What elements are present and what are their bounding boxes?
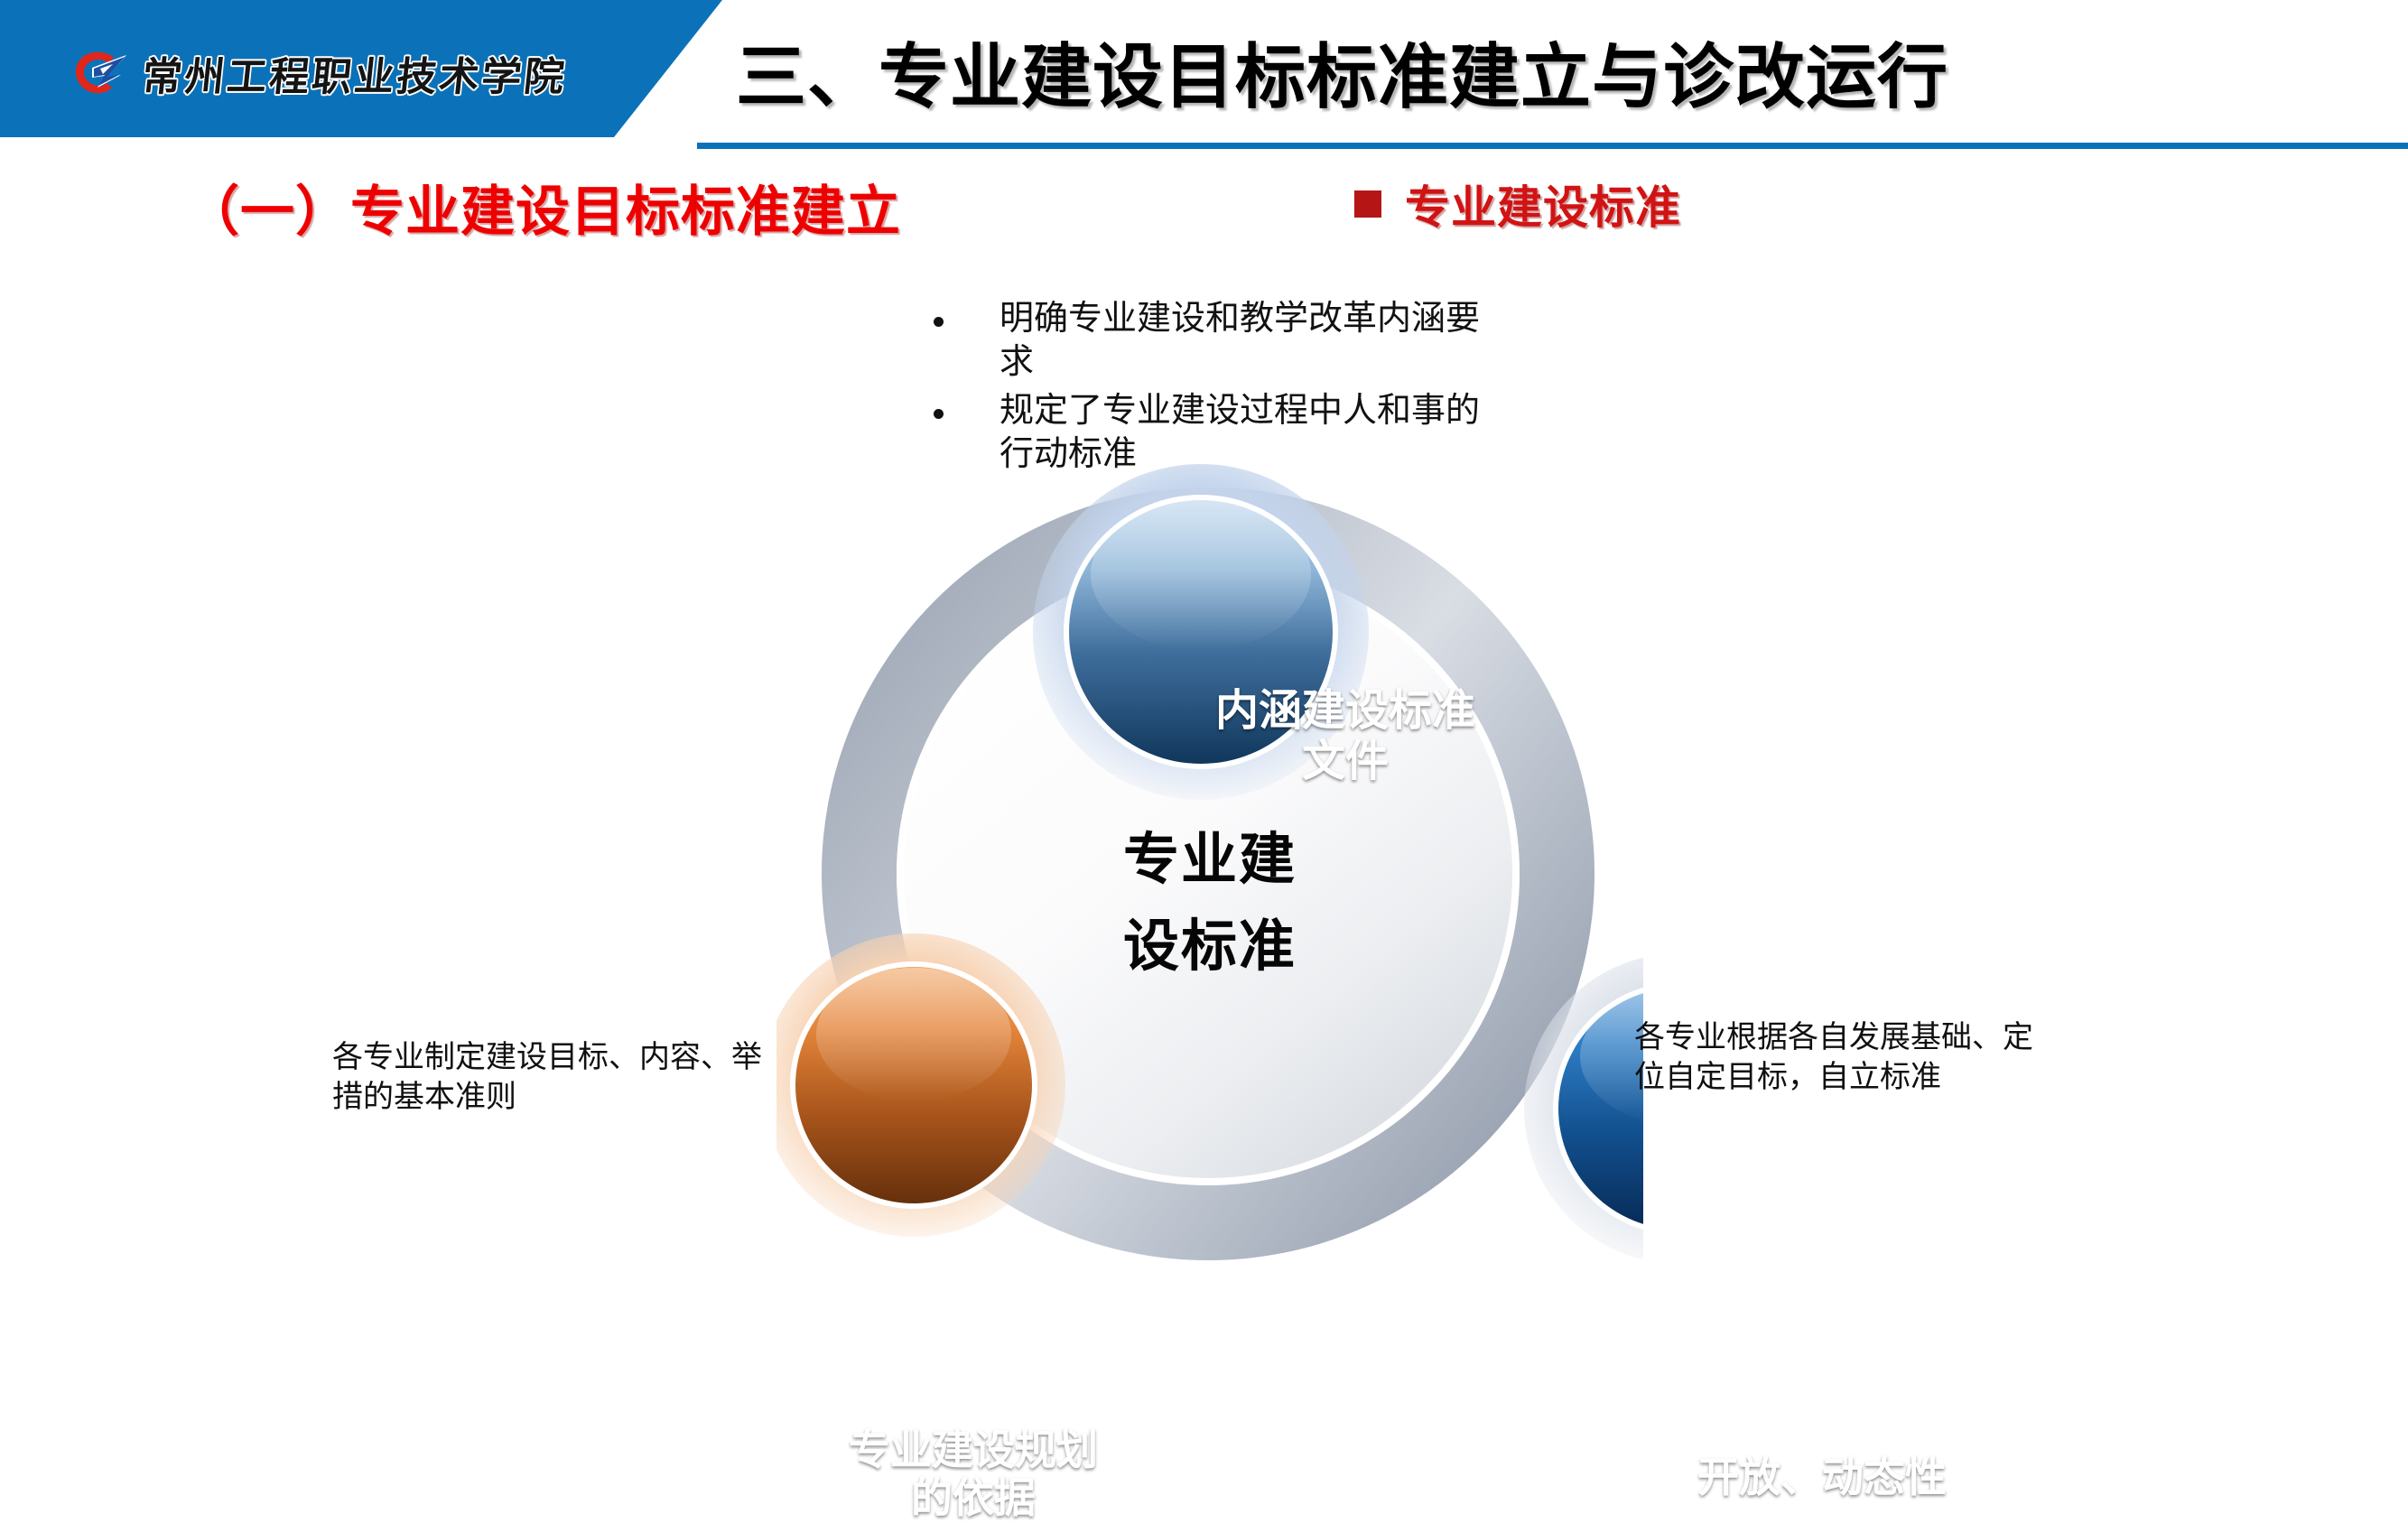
section-subtitle-left: （一）专业建设目标标准建立 [185, 168, 901, 246]
bullet-dot-icon [934, 317, 944, 327]
section-subtitle-right-label: 专业建设标准 [1405, 172, 1681, 237]
institution-logo: 常州工程职业技术学院 [70, 43, 630, 103]
university-emblem-icon [70, 48, 130, 98]
page-title: 三、专业建设目标标准建立与诊改运行 [736, 22, 2271, 121]
venn-ring-diagram: 内涵建设标准文件 专业建设规划的依据 开放、动态性 [776, 415, 1643, 1327]
slide-header: 常州工程职业技术学院 三、专业建设目标标准建立与诊改运行 [0, 0, 2408, 153]
node-right-label: 开放、动态性 [1687, 1453, 1957, 1501]
node-left-label: 专业建设规划的依据 [838, 1426, 1109, 1523]
header-divider [697, 143, 2408, 149]
caption-right: 各专业根据各自发展基础、定位自定目标，自立标准 [1634, 1018, 2050, 1097]
caption-left: 各专业制定建设目标、内容、举措的基本准则 [332, 1038, 775, 1117]
node-top [1033, 464, 1369, 800]
square-bullet-icon [1354, 190, 1381, 218]
section-subtitle-right: 专业建设标准 [1354, 172, 1681, 237]
institution-name: 常州工程职业技术学院 [140, 44, 571, 102]
list-item: 明确专业建设和教学改革内涵要求 [921, 298, 1481, 385]
list-item-label: 明确专业建设和教学改革内涵要求 [999, 298, 1481, 385]
